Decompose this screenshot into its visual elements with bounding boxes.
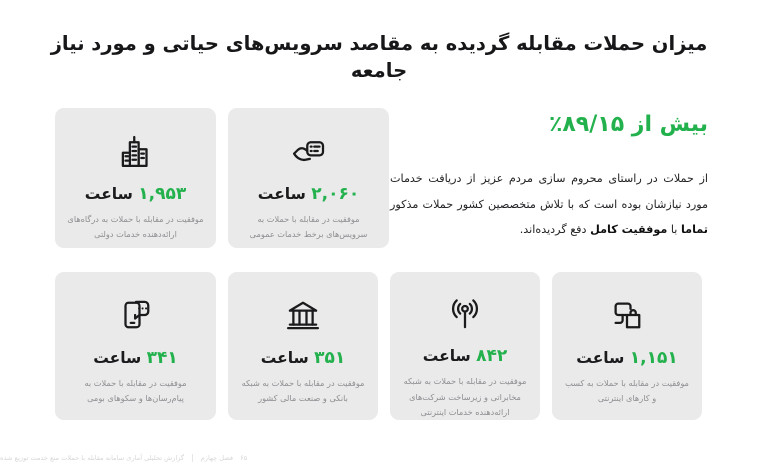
stat-number: ۱,۱۵۱ bbox=[630, 348, 678, 368]
stat-card-telecom-isp: ۸۴۲ ساعت موفقیت در مقابله با حملات به شب… bbox=[390, 272, 540, 420]
stat-unit: ساعت bbox=[576, 349, 624, 367]
summary-headline: بیش از ۸۹/۱۵٪ bbox=[390, 112, 708, 138]
stat-number: ۳۵۱ bbox=[314, 348, 345, 368]
stat-unit: ساعت bbox=[85, 185, 133, 203]
stat-number: ۳۴۱ bbox=[147, 348, 178, 368]
stat-description: موفقیت در مقابله با حملات به سرویس‌های ب… bbox=[228, 212, 389, 242]
footer-separator: | bbox=[191, 454, 194, 462]
page-title: میزان حملات مقابله گردیده به مقاصد سرویس… bbox=[0, 30, 758, 85]
stat-value-row: ۲,۰۶۰ ساعت bbox=[258, 186, 359, 203]
summary-body-bold-2: موفقیت کامل bbox=[590, 223, 667, 236]
slide-footer: ۶۵ فصل چهارم | گزارش تحلیلی آماری سامانه… bbox=[0, 454, 758, 462]
stat-card-messengers-platforms: ۳۴۱ ساعت موفقیت در مقابله با حملات به پی… bbox=[55, 272, 216, 420]
stat-value-row: ۳۵۱ ساعت bbox=[261, 350, 346, 367]
stat-value-row: ۳۴۱ ساعت bbox=[93, 350, 178, 367]
summary-body-part-2: با bbox=[667, 223, 681, 236]
stat-card-government-gateways: ۱,۹۵۳ ساعت موفقیت در مقابله با حملات به … bbox=[55, 108, 216, 248]
stat-description: موفقیت در مقابله با حملات به پیام‌رسان‌ه… bbox=[55, 376, 216, 406]
mobile-message-icon bbox=[115, 292, 157, 338]
stat-value-row: ۸۴۲ ساعت bbox=[423, 348, 508, 365]
stat-number: ۱,۹۵۳ bbox=[138, 184, 186, 204]
summary-body-bold-1: تماما bbox=[681, 223, 708, 236]
hand-service-tag-icon bbox=[288, 128, 330, 174]
footer-report-title: گزارش تحلیلی آماری سامانه مقابله با حملا… bbox=[0, 454, 184, 462]
stat-description: موفقیت در مقابله با حملات به کسب و کارها… bbox=[552, 376, 702, 406]
summary-body-part-3: دفع گردیده‌اند. bbox=[520, 223, 590, 236]
summary-panel: بیش از ۸۹/۱۵٪ از حملات در راستای محروم س… bbox=[390, 112, 708, 242]
shopping-bag-icon bbox=[606, 292, 648, 338]
broadcast-antenna-icon bbox=[444, 292, 486, 336]
stat-unit: ساعت bbox=[423, 347, 471, 365]
stat-number: ۸۴۲ bbox=[476, 346, 507, 366]
stat-unit: ساعت bbox=[261, 349, 309, 367]
summary-body: از حملات در راستای محروم سازی مردم عزیز … bbox=[390, 166, 708, 242]
office-building-icon bbox=[115, 128, 157, 174]
stat-unit: ساعت bbox=[93, 349, 141, 367]
stat-number: ۲,۰۶۰ bbox=[311, 184, 359, 204]
footer-page-number: ۶۵ bbox=[240, 454, 247, 462]
stat-card-public-online-services: ۲,۰۶۰ ساعت موفقیت در مقابله با حملات به … bbox=[228, 108, 389, 248]
stat-description: موفقیت در مقابله با حملات به درگاه‌های ا… bbox=[55, 212, 216, 242]
stat-value-row: ۱,۱۵۱ ساعت bbox=[576, 350, 677, 367]
stat-card-banking-finance: ۳۵۱ ساعت موفقیت در مقابله با حملات به شب… bbox=[228, 272, 378, 420]
stat-value-row: ۱,۹۵۳ ساعت bbox=[85, 186, 186, 203]
stat-card-internet-businesses: ۱,۱۵۱ ساعت موفقیت در مقابله با حملات به … bbox=[552, 272, 702, 420]
bank-icon bbox=[282, 292, 324, 338]
summary-body-part-1: از حملات در راستای محروم سازی مردم عزیز … bbox=[390, 172, 708, 210]
stat-description: موفقیت در مقابله با حملات به شبکه مخابرا… bbox=[390, 374, 540, 420]
footer-chapter: فصل چهارم bbox=[201, 454, 233, 462]
stat-unit: ساعت bbox=[258, 185, 306, 203]
stat-description: موفقیت در مقابله با حملات به شبکه بانکی … bbox=[228, 376, 378, 406]
